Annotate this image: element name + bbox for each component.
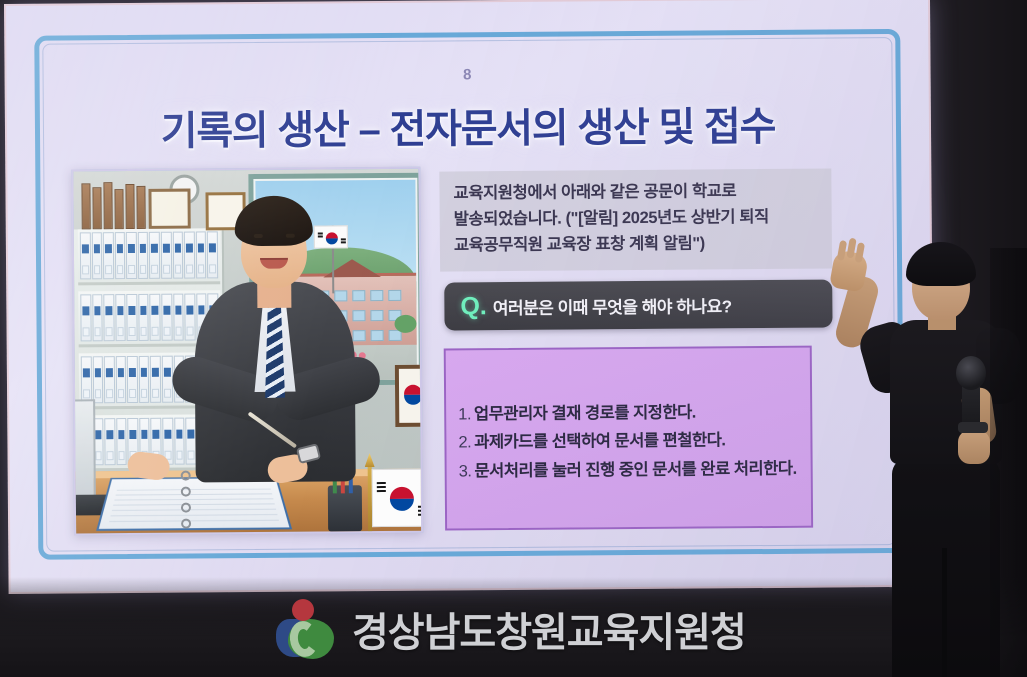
logo-red-dot — [292, 599, 314, 621]
slide-title: 기록의 생산 – 전자문서의 생산 및 접수 — [60, 93, 876, 157]
organization-name: 경상남도창원교육지원청 — [352, 600, 746, 658]
illustration-desk-flag — [368, 455, 424, 533]
screenshot-stage: 8 기록의 생산 – 전자문서의 생산 및 접수 — [0, 0, 1027, 677]
answer-item-1: 1.업무관리자 결재 경로를 지정한다. — [458, 398, 810, 429]
answer-label: 문서처리를 눌러 진행 중인 문서를 완료 처리한다. — [474, 460, 796, 481]
organization-logo: 경상남도창원교육지원청 — [276, 599, 746, 659]
illustration-tree — [394, 315, 416, 333]
question-banner: Q. 여러분은 이때 무엇을 해야 하나요? — [444, 280, 832, 331]
answer-item-2: 2.과제카드를 선택하여 문서를 편철한다. — [458, 426, 810, 457]
presenter-leg-gap — [942, 548, 947, 677]
question-text: 여러분은 이때 무엇을 해야 하나요? — [493, 292, 732, 319]
illustration-pen-cup — [328, 485, 362, 531]
answer-number: 1. — [458, 405, 471, 423]
notice-line-3: 교육공무직원 교육장 표창 계획 알림") — [454, 230, 818, 259]
presenter-wristwatch — [958, 422, 988, 433]
answer-label: 과제카드를 선택하여 문서를 편철한다. — [474, 432, 725, 452]
answer-number: 2. — [458, 434, 471, 452]
illustration-books — [81, 181, 153, 230]
illustration-certificate-frame — [148, 189, 190, 229]
answer-label: 업무관리자 결재 경로를 지정한다. — [474, 404, 696, 424]
question-marker: Q. — [460, 294, 487, 319]
korean-flag-icon — [314, 225, 348, 248]
projection-screen: 8 기록의 생산 – 전자문서의 생산 및 접수 — [4, 0, 935, 594]
notice-line-1: 교육지원청에서 아래와 같은 공문이 학교로 — [453, 178, 817, 207]
notice-line-2: 발송되었습니다. ("[알림] 2025년도 상반기 퇴직 — [454, 204, 818, 233]
microphone-head-icon — [956, 356, 986, 390]
presenter-shadow-overlay — [990, 248, 1027, 677]
presenter-raised-hand — [829, 249, 869, 292]
illustration-person-eye — [286, 234, 295, 238]
illustration-photo-frame — [395, 365, 423, 427]
slide-page-number: 8 — [5, 63, 931, 87]
illustration-binder-rings — [181, 467, 192, 533]
illustration-monitor — [71, 399, 96, 499]
office-worker-illustration — [71, 167, 423, 536]
answer-options-box: 1.업무관리자 결재 경로를 지정한다. 2.과제카드를 선택하여 문서를 편철… — [444, 346, 813, 531]
illustration-person-eye — [254, 234, 263, 238]
presenter-person — [840, 248, 1027, 677]
presenter-hair — [906, 242, 976, 286]
illustration-document-binder — [96, 477, 292, 531]
organization-logo-icon — [276, 599, 338, 659]
answer-item-3: 3.문서처리를 눌러 진행 중인 문서를 완료 처리한다. — [459, 454, 811, 485]
answer-number: 3. — [459, 462, 472, 480]
presentation-slide: 8 기록의 생산 – 전자문서의 생산 및 접수 — [4, 0, 935, 594]
notice-paragraph-box: 교육지원청에서 아래와 같은 공문이 학교로 발송되었습니다. ("[알림] 2… — [439, 169, 832, 272]
presenter-mic-hand — [958, 430, 990, 464]
